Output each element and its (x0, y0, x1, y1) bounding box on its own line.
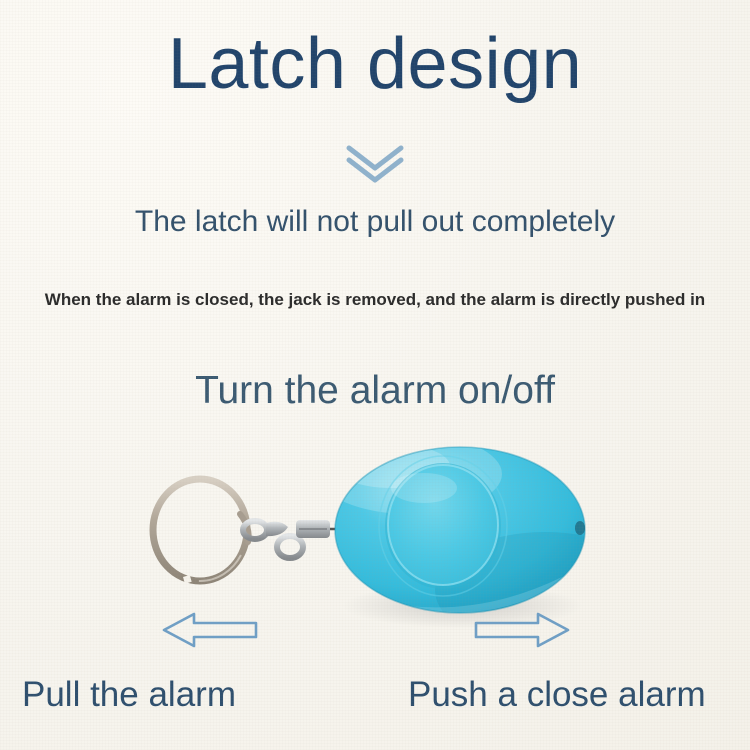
caption-pull-the-alarm: Pull the alarm (22, 676, 236, 715)
product-image-personal-alarm (0, 430, 750, 645)
double-chevron-down-icon (335, 142, 415, 186)
caption-push-a-close-alarm: Push a close alarm (408, 676, 706, 715)
page-title: Latch design (0, 28, 750, 100)
section-heading-turn-alarm: Turn the alarm on/off (0, 370, 750, 413)
arrow-right-outline-icon (472, 610, 572, 650)
fineprint-text: When the alarm is closed, the jack is re… (0, 290, 750, 310)
poster-canvas: Latch design The latch will not pull out… (0, 0, 750, 750)
subtitle-text: The latch will not pull out completely (0, 205, 750, 240)
arrow-left-outline-icon (160, 610, 260, 650)
